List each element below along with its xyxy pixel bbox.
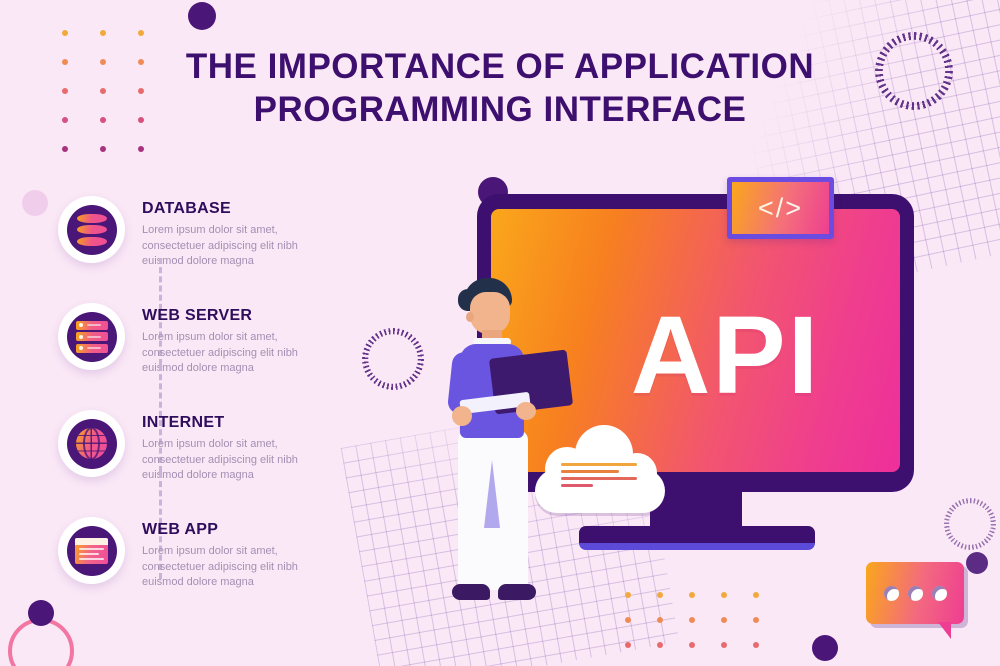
purple-dot-bottom-right — [812, 635, 838, 661]
pink-ring-decoration — [8, 618, 74, 666]
feature-title: INTERNET — [142, 414, 320, 432]
feature-item-database[interactable]: DATABASELorem ipsum dolor sit amet, cons… — [58, 196, 358, 303]
person-shoe-right — [498, 584, 536, 600]
sunburst-icon-top-right — [875, 32, 953, 110]
decorative-dot — [62, 117, 68, 123]
browser-window-icon — [75, 538, 108, 564]
decorative-dot — [689, 592, 695, 598]
feature-description: Lorem ipsum dolor sit amet, consectetuer… — [142, 223, 320, 270]
decorative-dot — [721, 592, 727, 598]
feature-title: WEB APP — [142, 521, 320, 539]
decorative-dot — [100, 59, 106, 65]
page-title: THE IMPORTANCE OF APPLICATION PROGRAMMIN… — [120, 46, 880, 131]
feature-icon-badge[interactable] — [58, 196, 125, 263]
database-icon — [77, 214, 107, 246]
soft-circle-decoration — [22, 190, 48, 216]
person-ear — [466, 312, 474, 322]
feature-text-block: DATABASELorem ipsum dolor sit amet, cons… — [142, 196, 320, 270]
decorative-dot — [689, 617, 695, 623]
purple-dot-top — [188, 2, 216, 30]
infographic-poster: THE IMPORTANCE OF APPLICATION PROGRAMMIN… — [0, 0, 1000, 666]
decorative-dot — [657, 617, 663, 623]
feature-icon-circle — [67, 312, 117, 362]
decorative-dot — [62, 146, 68, 152]
decorative-dot — [100, 88, 106, 94]
feature-item-web-app[interactable]: WEB APPLorem ipsum dolor sit amet, conse… — [58, 517, 358, 624]
page-title-line-1: THE IMPORTANCE OF APPLICATION — [120, 46, 880, 89]
sunburst-icon-bottom-right — [944, 498, 996, 550]
decorative-dot — [625, 592, 631, 598]
feature-icon-badge[interactable] — [58, 410, 125, 477]
api-screen-text: API — [631, 301, 820, 411]
decorative-dot — [625, 642, 631, 648]
feature-text-block: WEB APPLorem ipsum dolor sit amet, conse… — [142, 517, 320, 591]
decorative-dot — [100, 30, 106, 36]
decorative-dot — [138, 30, 144, 36]
decorative-dot — [657, 592, 663, 598]
decorative-dot — [689, 642, 695, 648]
person-face — [470, 292, 510, 334]
decorative-dot — [625, 617, 631, 623]
globe-icon — [76, 428, 107, 459]
feature-icon-circle — [67, 526, 117, 576]
person-shoe-left — [452, 584, 490, 600]
feature-text-block: WEB SERVERLorem ipsum dolor sit amet, co… — [142, 303, 320, 377]
feature-text-block: INTERNETLorem ipsum dolor sit amet, cons… — [142, 410, 320, 484]
feature-icon-badge[interactable] — [58, 303, 125, 370]
feature-icon-circle — [67, 419, 117, 469]
monitor-base — [579, 526, 815, 550]
decorative-dot — [657, 642, 663, 648]
person-hand-right — [516, 402, 536, 420]
feature-description: Lorem ipsum dolor sit amet, consectetuer… — [142, 437, 320, 484]
decorative-dot — [62, 30, 68, 36]
sunburst-icon-middle-left — [362, 328, 424, 390]
person-with-laptop-illustration — [432, 278, 562, 628]
purple-dot-mid-right — [966, 552, 988, 574]
code-badge-text: </> — [758, 193, 803, 224]
dot-grid-bottom-right — [625, 592, 785, 666]
server-icon — [76, 321, 108, 353]
purple-dot-bottom-left — [28, 600, 54, 626]
chat-bubble-dots — [866, 562, 964, 624]
decorative-dot — [100, 117, 106, 123]
feature-icon-badge[interactable] — [58, 517, 125, 584]
chat-bubble-icon — [866, 562, 964, 624]
feature-title: DATABASE — [142, 200, 320, 218]
cloud-data-lines — [561, 463, 637, 491]
decorative-dot — [721, 642, 727, 648]
decorative-dot — [753, 642, 759, 648]
code-badge: </> — [727, 177, 834, 239]
decorative-dot — [100, 146, 106, 152]
decorative-dot — [721, 617, 727, 623]
decorative-dot — [62, 59, 68, 65]
feature-description: Lorem ipsum dolor sit amet, consectetuer… — [142, 330, 320, 377]
feature-icon-circle — [67, 205, 117, 255]
feature-description: Lorem ipsum dolor sit amet, consectetuer… — [142, 544, 320, 591]
feature-item-internet[interactable]: INTERNETLorem ipsum dolor sit amet, cons… — [58, 410, 358, 517]
decorative-dot — [753, 617, 759, 623]
feature-item-web-server[interactable]: WEB SERVERLorem ipsum dolor sit amet, co… — [58, 303, 358, 410]
decorative-dot — [138, 146, 144, 152]
decorative-dot — [753, 592, 759, 598]
person-hand-left — [452, 406, 472, 426]
decorative-dot — [62, 88, 68, 94]
feature-title: WEB SERVER — [142, 307, 320, 325]
feature-list: DATABASELorem ipsum dolor sit amet, cons… — [58, 196, 358, 624]
page-title-line-2: PROGRAMMING INTERFACE — [120, 89, 880, 132]
